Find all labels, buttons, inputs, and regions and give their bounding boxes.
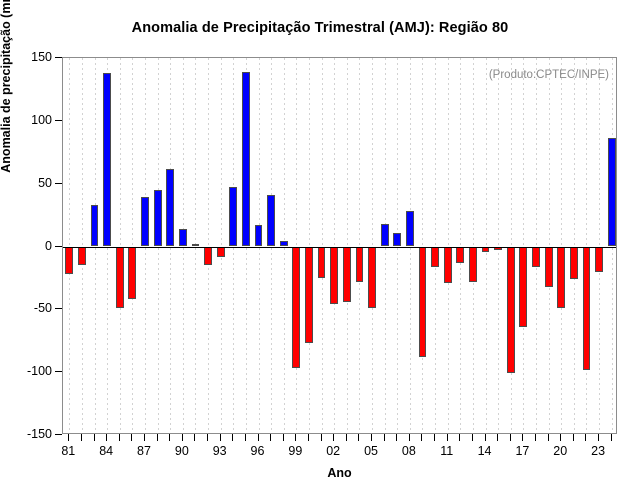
bar-1985 bbox=[116, 247, 124, 309]
bar-2019 bbox=[545, 247, 553, 287]
chart-title: Anomalia de Precipitação Trimestral (AMJ… bbox=[0, 20, 640, 36]
x-tick-mark bbox=[472, 434, 473, 441]
bar-1987 bbox=[141, 197, 149, 246]
x-tick-mark bbox=[258, 434, 259, 441]
x-tick-mark bbox=[485, 434, 486, 441]
x-tick-mark bbox=[459, 434, 460, 441]
bar-1999 bbox=[292, 247, 300, 369]
x-tick-label: 87 bbox=[137, 444, 151, 458]
bar-1984 bbox=[103, 73, 111, 246]
x-tick-label: 81 bbox=[61, 444, 75, 458]
bar-2018 bbox=[532, 247, 540, 267]
x-tick-label: 05 bbox=[364, 444, 378, 458]
x-tick-mark bbox=[245, 434, 246, 441]
x-tick-mark bbox=[598, 434, 599, 441]
bar-2006 bbox=[381, 224, 389, 247]
bar-2002 bbox=[330, 247, 338, 305]
x-tick-mark bbox=[421, 434, 422, 441]
x-tick-mark bbox=[510, 434, 511, 441]
bar-1993 bbox=[217, 247, 225, 257]
x-tick-mark bbox=[371, 434, 372, 441]
bar-2020 bbox=[557, 247, 565, 309]
x-tick-mark bbox=[434, 434, 435, 441]
bars-layer bbox=[63, 58, 616, 433]
x-tick-mark bbox=[308, 434, 309, 441]
x-tick-mark bbox=[548, 434, 549, 441]
x-tick-mark bbox=[106, 434, 107, 441]
x-tick-mark bbox=[182, 434, 183, 441]
y-tick-mark bbox=[55, 434, 62, 435]
y-tick-mark bbox=[55, 246, 62, 247]
x-tick-mark bbox=[573, 434, 574, 441]
x-tick-mark bbox=[207, 434, 208, 441]
bar-1983 bbox=[91, 205, 99, 246]
bar-1988 bbox=[154, 190, 162, 247]
x-tick-mark bbox=[220, 434, 221, 441]
bar-1989 bbox=[166, 169, 174, 247]
bar-2022 bbox=[583, 247, 591, 370]
y-tick-mark bbox=[55, 120, 62, 121]
x-tick-mark bbox=[119, 434, 120, 441]
bar-2017 bbox=[519, 247, 527, 327]
x-tick-label: 11 bbox=[440, 444, 453, 458]
bar-2009 bbox=[419, 247, 427, 358]
x-tick-mark bbox=[232, 434, 233, 441]
x-tick-label: 20 bbox=[553, 444, 567, 458]
x-tick-mark bbox=[81, 434, 82, 441]
bar-2000 bbox=[305, 247, 313, 344]
bar-2016 bbox=[507, 247, 515, 374]
x-tick-mark bbox=[358, 434, 359, 441]
bar-2004 bbox=[356, 247, 364, 282]
x-tick-mark bbox=[409, 434, 410, 441]
y-tick-label: -150 bbox=[27, 427, 52, 441]
bar-2010 bbox=[431, 247, 439, 267]
x-tick-mark bbox=[144, 434, 145, 441]
x-tick-label: 14 bbox=[478, 444, 492, 458]
y-tick-mark bbox=[55, 371, 62, 372]
y-tick-mark bbox=[55, 57, 62, 58]
bar-2008 bbox=[406, 211, 414, 246]
bar-2005 bbox=[368, 247, 376, 309]
x-tick-label: 23 bbox=[591, 444, 605, 458]
x-tick-mark bbox=[270, 434, 271, 441]
bar-2024 bbox=[608, 138, 616, 246]
x-tick-mark bbox=[535, 434, 536, 441]
x-tick-mark bbox=[283, 434, 284, 441]
bar-1990 bbox=[179, 229, 187, 247]
bar-2012 bbox=[456, 247, 464, 263]
x-tick-mark bbox=[560, 434, 561, 441]
bar-2011 bbox=[444, 247, 452, 283]
x-tick-label: 84 bbox=[99, 444, 113, 458]
bar-2013 bbox=[469, 247, 477, 282]
bar-2021 bbox=[570, 247, 578, 280]
bar-2023 bbox=[595, 247, 603, 272]
bar-2007 bbox=[393, 233, 401, 247]
x-tick-mark bbox=[194, 434, 195, 441]
bar-2003 bbox=[343, 247, 351, 302]
x-tick-mark bbox=[333, 434, 334, 441]
x-tick-mark bbox=[131, 434, 132, 441]
x-tick-label: 90 bbox=[175, 444, 189, 458]
x-tick-label: 08 bbox=[402, 444, 416, 458]
x-tick-mark bbox=[396, 434, 397, 441]
bar-1996 bbox=[255, 225, 263, 246]
x-tick-mark bbox=[157, 434, 158, 441]
x-tick-label: 17 bbox=[515, 444, 529, 458]
x-tick-mark bbox=[384, 434, 385, 441]
x-axis-title: Ano bbox=[62, 466, 617, 480]
bar-1982 bbox=[78, 247, 86, 266]
y-tick-mark bbox=[55, 308, 62, 309]
x-tick-label: 93 bbox=[213, 444, 227, 458]
x-tick-mark bbox=[295, 434, 296, 441]
x-tick-mark bbox=[585, 434, 586, 441]
bar-2001 bbox=[318, 247, 326, 278]
bar-1995 bbox=[242, 72, 250, 247]
y-tick-label: 50 bbox=[38, 176, 52, 190]
bar-1997 bbox=[267, 195, 275, 247]
x-tick-mark bbox=[321, 434, 322, 441]
x-tick-mark bbox=[169, 434, 170, 441]
x-tick-mark bbox=[346, 434, 347, 441]
bar-1981 bbox=[65, 247, 73, 275]
y-tick-label: 150 bbox=[31, 50, 52, 64]
x-tick-mark bbox=[94, 434, 95, 441]
y-axis-title: Anomalia de precipitação (mm) bbox=[0, 0, 13, 245]
x-tick-mark bbox=[447, 434, 448, 441]
y-tick-mark bbox=[55, 183, 62, 184]
y-tick-label: -50 bbox=[34, 301, 52, 315]
chart-container: Anomalia de Precipitação Trimestral (AMJ… bbox=[0, 0, 640, 500]
x-tick-label: 96 bbox=[251, 444, 265, 458]
x-tick-label: 02 bbox=[326, 444, 340, 458]
y-tick-label: 100 bbox=[31, 113, 52, 127]
x-tick-mark bbox=[68, 434, 69, 441]
x-tick-mark bbox=[522, 434, 523, 441]
bar-1994 bbox=[229, 187, 237, 246]
x-tick-mark bbox=[497, 434, 498, 441]
plot-area: (Produto:CPTEC/INPE) bbox=[62, 57, 617, 434]
bar-1986 bbox=[128, 247, 136, 300]
y-tick-label: -100 bbox=[27, 364, 52, 378]
bar-1992 bbox=[204, 247, 212, 266]
zero-baseline bbox=[63, 247, 616, 248]
y-tick-label: 0 bbox=[45, 239, 52, 253]
x-tick-mark bbox=[611, 434, 612, 441]
x-tick-label: 99 bbox=[288, 444, 302, 458]
